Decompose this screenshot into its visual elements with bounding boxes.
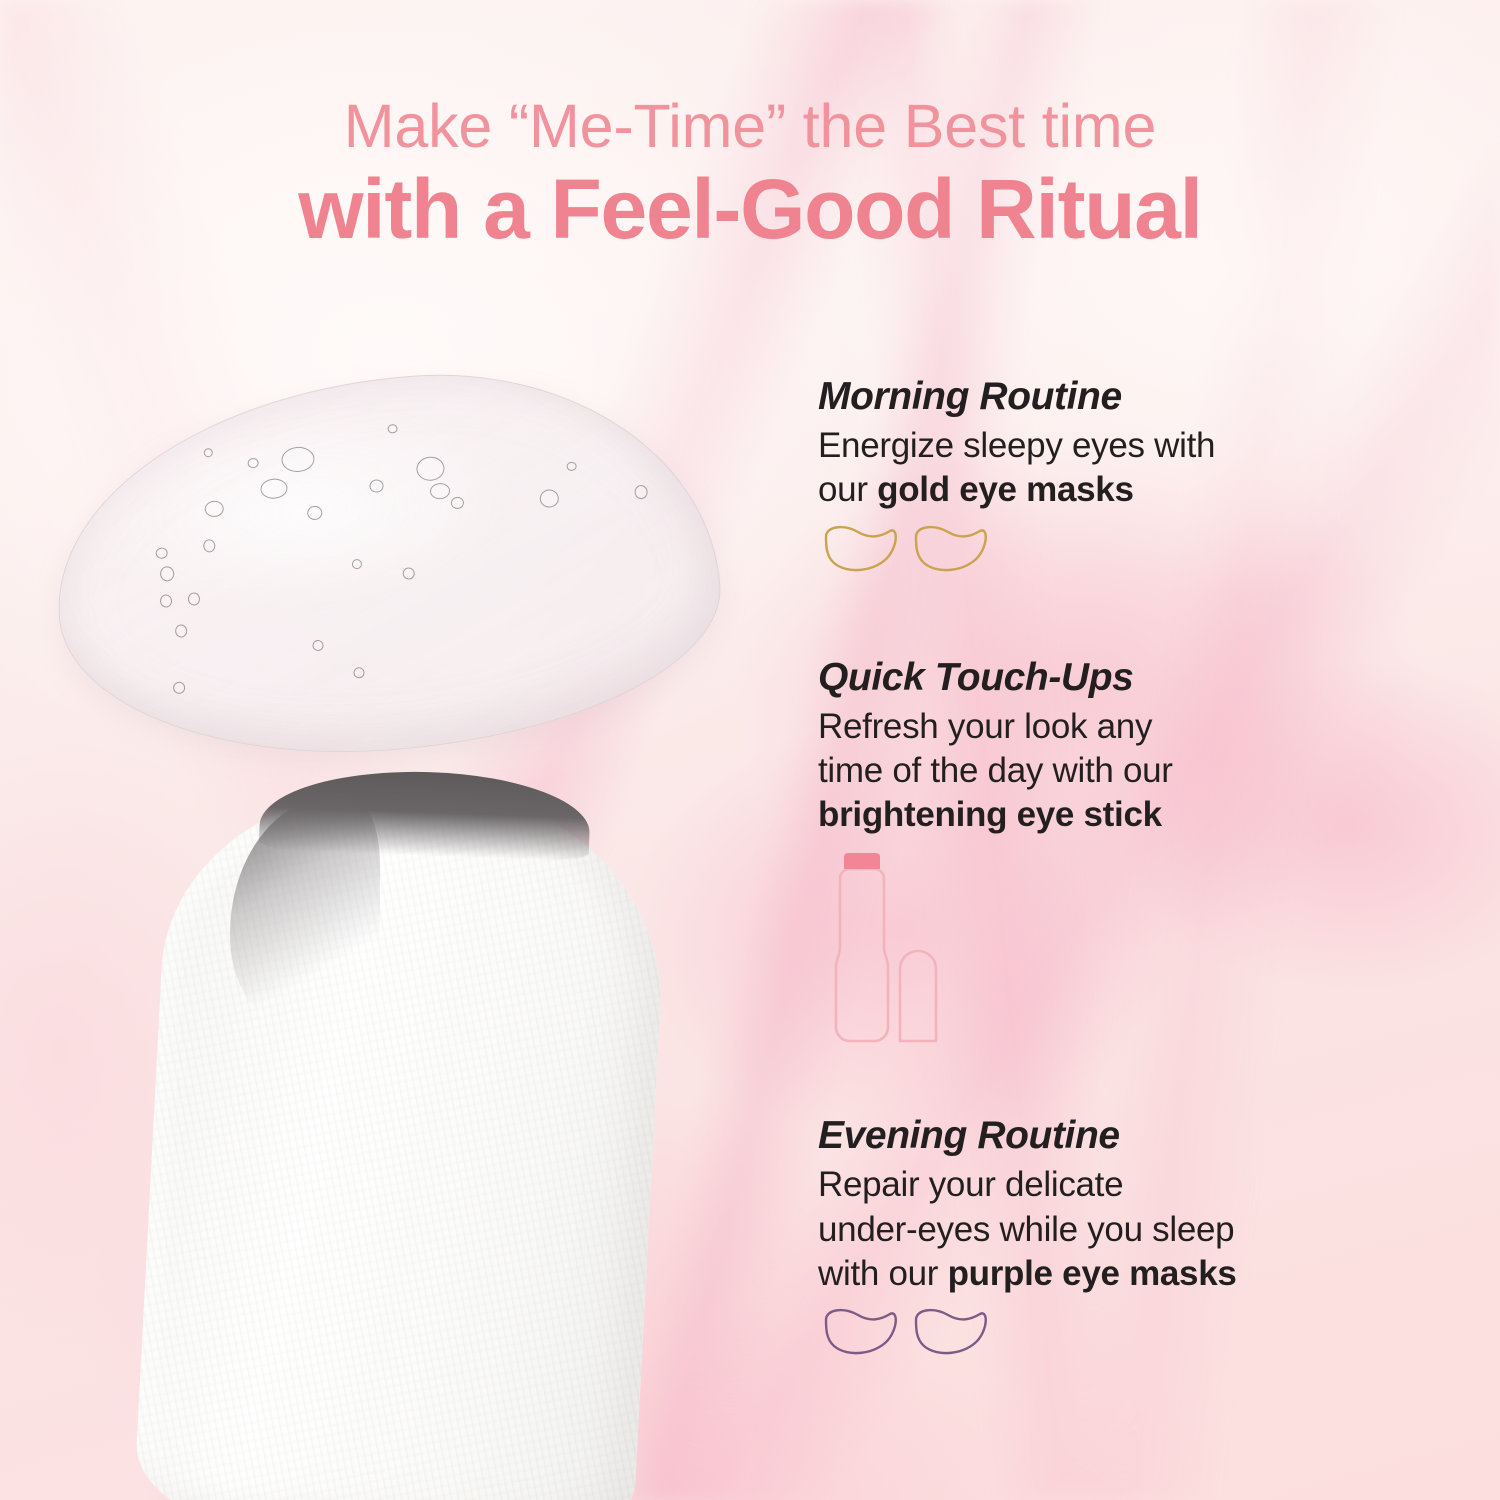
gel-bubble bbox=[307, 505, 323, 520]
marketing-image-canvas: Make “Me-Time” the Best time with a Feel… bbox=[0, 0, 1500, 1500]
routine-body-line: Energize sleepy eyes with bbox=[818, 426, 1215, 465]
headline: Make “Me-Time” the Best time with a Feel… bbox=[0, 96, 1500, 251]
routine-block-morning: Morning Routine Energize sleepy eyes wit… bbox=[818, 376, 1378, 581]
gel-bubble bbox=[155, 547, 168, 559]
gel-bubble bbox=[634, 485, 648, 500]
pink-eye-stick-icon bbox=[818, 851, 1378, 1049]
routine-body-line-2: under-eyes while you sleep bbox=[818, 1210, 1234, 1249]
gel-bubble bbox=[566, 462, 577, 472]
routine-body-lead: our bbox=[818, 470, 877, 509]
routine-heading-quick-touchups: Quick Touch-Ups bbox=[818, 657, 1378, 698]
gel-bubble bbox=[402, 567, 415, 580]
routine-list: Morning Routine Energize sleepy eyes wit… bbox=[818, 376, 1378, 1364]
cream-swatch-image bbox=[110, 770, 670, 1500]
routine-heading-evening: Evening Routine bbox=[818, 1115, 1378, 1156]
gel-bubble bbox=[203, 539, 216, 553]
routine-body-emphasis: purple eye masks bbox=[948, 1254, 1237, 1293]
gel-bubble bbox=[369, 479, 384, 493]
headline-line-2: with a Feel-Good Ritual bbox=[0, 167, 1500, 251]
gel-bubble bbox=[312, 640, 324, 652]
gel-bubble bbox=[281, 446, 316, 473]
gel-bubble bbox=[204, 500, 224, 517]
routine-body-emphasis: brightening eye stick bbox=[818, 795, 1162, 834]
routine-block-quick-touchups: Quick Touch-Ups Refresh your look anytim… bbox=[818, 657, 1378, 1050]
cream-tip-shadow bbox=[259, 766, 592, 861]
gel-bubble bbox=[539, 489, 559, 508]
gel-bubble bbox=[247, 458, 259, 469]
routine-block-evening: Evening Routine Repair your delicateunde… bbox=[818, 1115, 1378, 1364]
gel-bubble bbox=[203, 448, 213, 458]
gel-bubble bbox=[352, 559, 363, 570]
gel-bubble bbox=[175, 624, 188, 638]
routine-heading-morning: Morning Routine bbox=[818, 376, 1378, 417]
purple-eye-mask-pair-icon bbox=[818, 1306, 1378, 1364]
routine-body-morning: Energize sleepy eyes withour gold eye ma… bbox=[818, 424, 1378, 512]
gold-eye-mask-pair-icon bbox=[818, 523, 1378, 581]
gel-bubble bbox=[416, 456, 446, 482]
gel-bubble bbox=[160, 566, 175, 582]
routine-body-line-2: time of the day with our bbox=[818, 751, 1173, 790]
headline-line-1: Make “Me-Time” the Best time bbox=[0, 96, 1500, 157]
gel-bubble bbox=[173, 681, 186, 694]
gel-bubble bbox=[188, 592, 201, 606]
routine-body-line: Refresh your look any bbox=[818, 707, 1152, 746]
cream-body bbox=[133, 775, 671, 1500]
routine-body-evening: Repair your delicateunder-eyes while you… bbox=[818, 1163, 1378, 1295]
gel-bubble bbox=[430, 482, 451, 499]
gel-bubble bbox=[160, 594, 173, 608]
routine-body-emphasis: gold eye masks bbox=[877, 470, 1134, 509]
routine-body-lead: with our bbox=[818, 1254, 948, 1293]
routine-body-line: Repair your delicate bbox=[818, 1165, 1123, 1204]
gel-bubble bbox=[387, 424, 398, 434]
gel-bubble bbox=[451, 497, 465, 510]
cream-texture bbox=[133, 775, 671, 1500]
routine-body-quick-touchups: Refresh your look anytime of the day wit… bbox=[818, 705, 1378, 837]
gel-bubble bbox=[353, 667, 365, 679]
gel-bubble bbox=[260, 478, 288, 500]
